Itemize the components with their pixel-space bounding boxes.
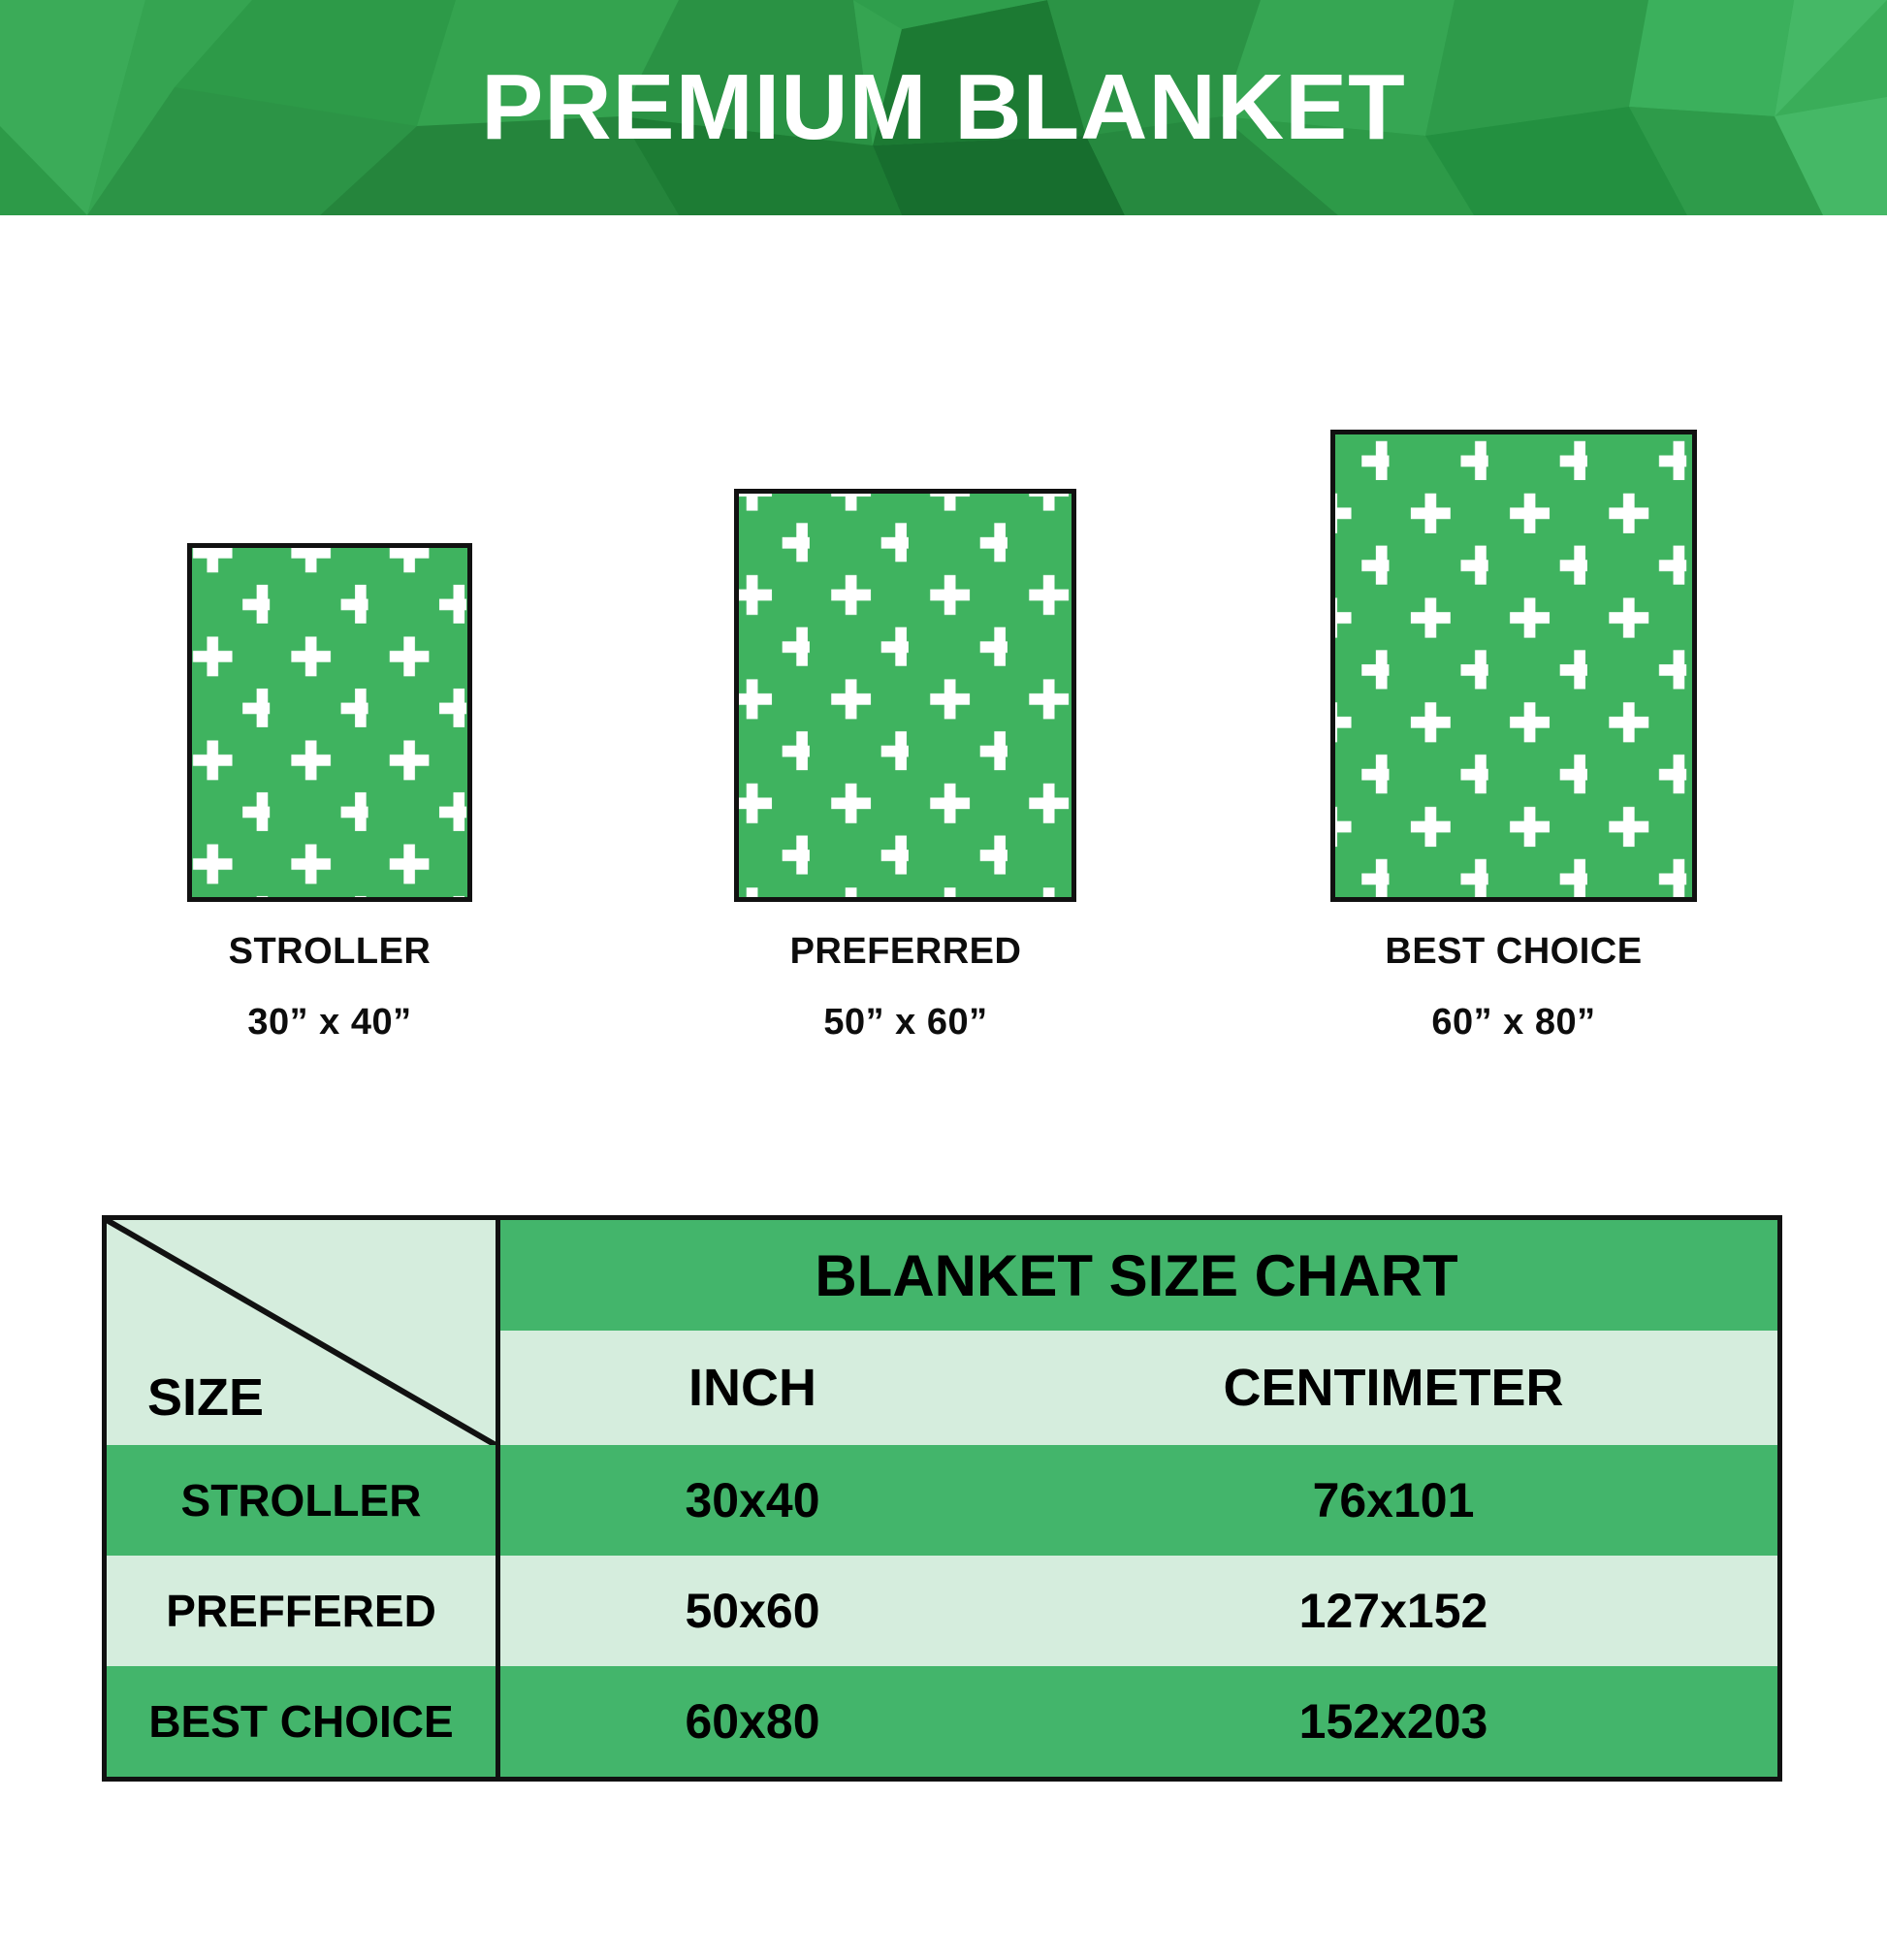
plus-pattern-icon: [739, 494, 1071, 897]
blanket-size-chart-table: SIZE BLANKET SIZE CHART INCH CENTIMETER …: [102, 1215, 1782, 1782]
table-column-divider: [496, 1220, 500, 1777]
blanket-swatch-best-choice: [1330, 430, 1697, 902]
table-row-label-best-choice: BEST CHOICE: [107, 1666, 496, 1777]
table-header-inch: INCH: [496, 1331, 1009, 1445]
table-row-label-preffered: PREFFERED: [107, 1556, 496, 1666]
swatch-dimensions-stroller: 30” x 40”: [100, 1002, 560, 1044]
table-cell-best-choice-centimeter: 152x203: [1009, 1666, 1777, 1777]
table-corner-size-cell: SIZE: [107, 1220, 496, 1445]
swatch-name-preferred: PREFERRED: [676, 931, 1135, 973]
swatch-name-best-choice: BEST CHOICE: [1284, 931, 1743, 973]
blanket-swatch-preferred: [734, 489, 1076, 902]
table-header-centimeter: CENTIMETER: [1009, 1331, 1777, 1445]
table-title: BLANKET SIZE CHART: [496, 1220, 1777, 1331]
header-banner: PREMIUM BLANKET: [0, 0, 1887, 215]
table-cell-stroller-centimeter: 76x101: [1009, 1445, 1777, 1556]
table-cell-stroller-inch: 30x40: [496, 1445, 1009, 1556]
table-corner-label: SIZE: [147, 1367, 264, 1428]
plus-pattern-icon: [1335, 434, 1692, 897]
swatch-gallery: STROLLER 30” x 40”: [0, 215, 1887, 1185]
swatch-caption-best-choice: BEST CHOICE 60” x 80”: [1284, 931, 1743, 1044]
page-title: PREMIUM BLANKET: [0, 0, 1887, 215]
table-cell-preffered-centimeter: 127x152: [1009, 1556, 1777, 1666]
plus-pattern-icon: [192, 548, 467, 897]
table-row-label-stroller: STROLLER: [107, 1445, 496, 1556]
swatch-dimensions-preferred: 50” x 60”: [676, 1002, 1135, 1044]
blanket-swatch-stroller: [187, 543, 472, 902]
table-cell-best-choice-inch: 60x80: [496, 1666, 1009, 1777]
swatch-dimensions-best-choice: 60” x 80”: [1284, 1002, 1743, 1044]
swatch-name-stroller: STROLLER: [100, 931, 560, 973]
table-cell-preffered-inch: 50x60: [496, 1556, 1009, 1666]
swatch-caption-preferred: PREFERRED 50” x 60”: [676, 931, 1135, 1044]
swatch-caption-stroller: STROLLER 30” x 40”: [100, 931, 560, 1044]
